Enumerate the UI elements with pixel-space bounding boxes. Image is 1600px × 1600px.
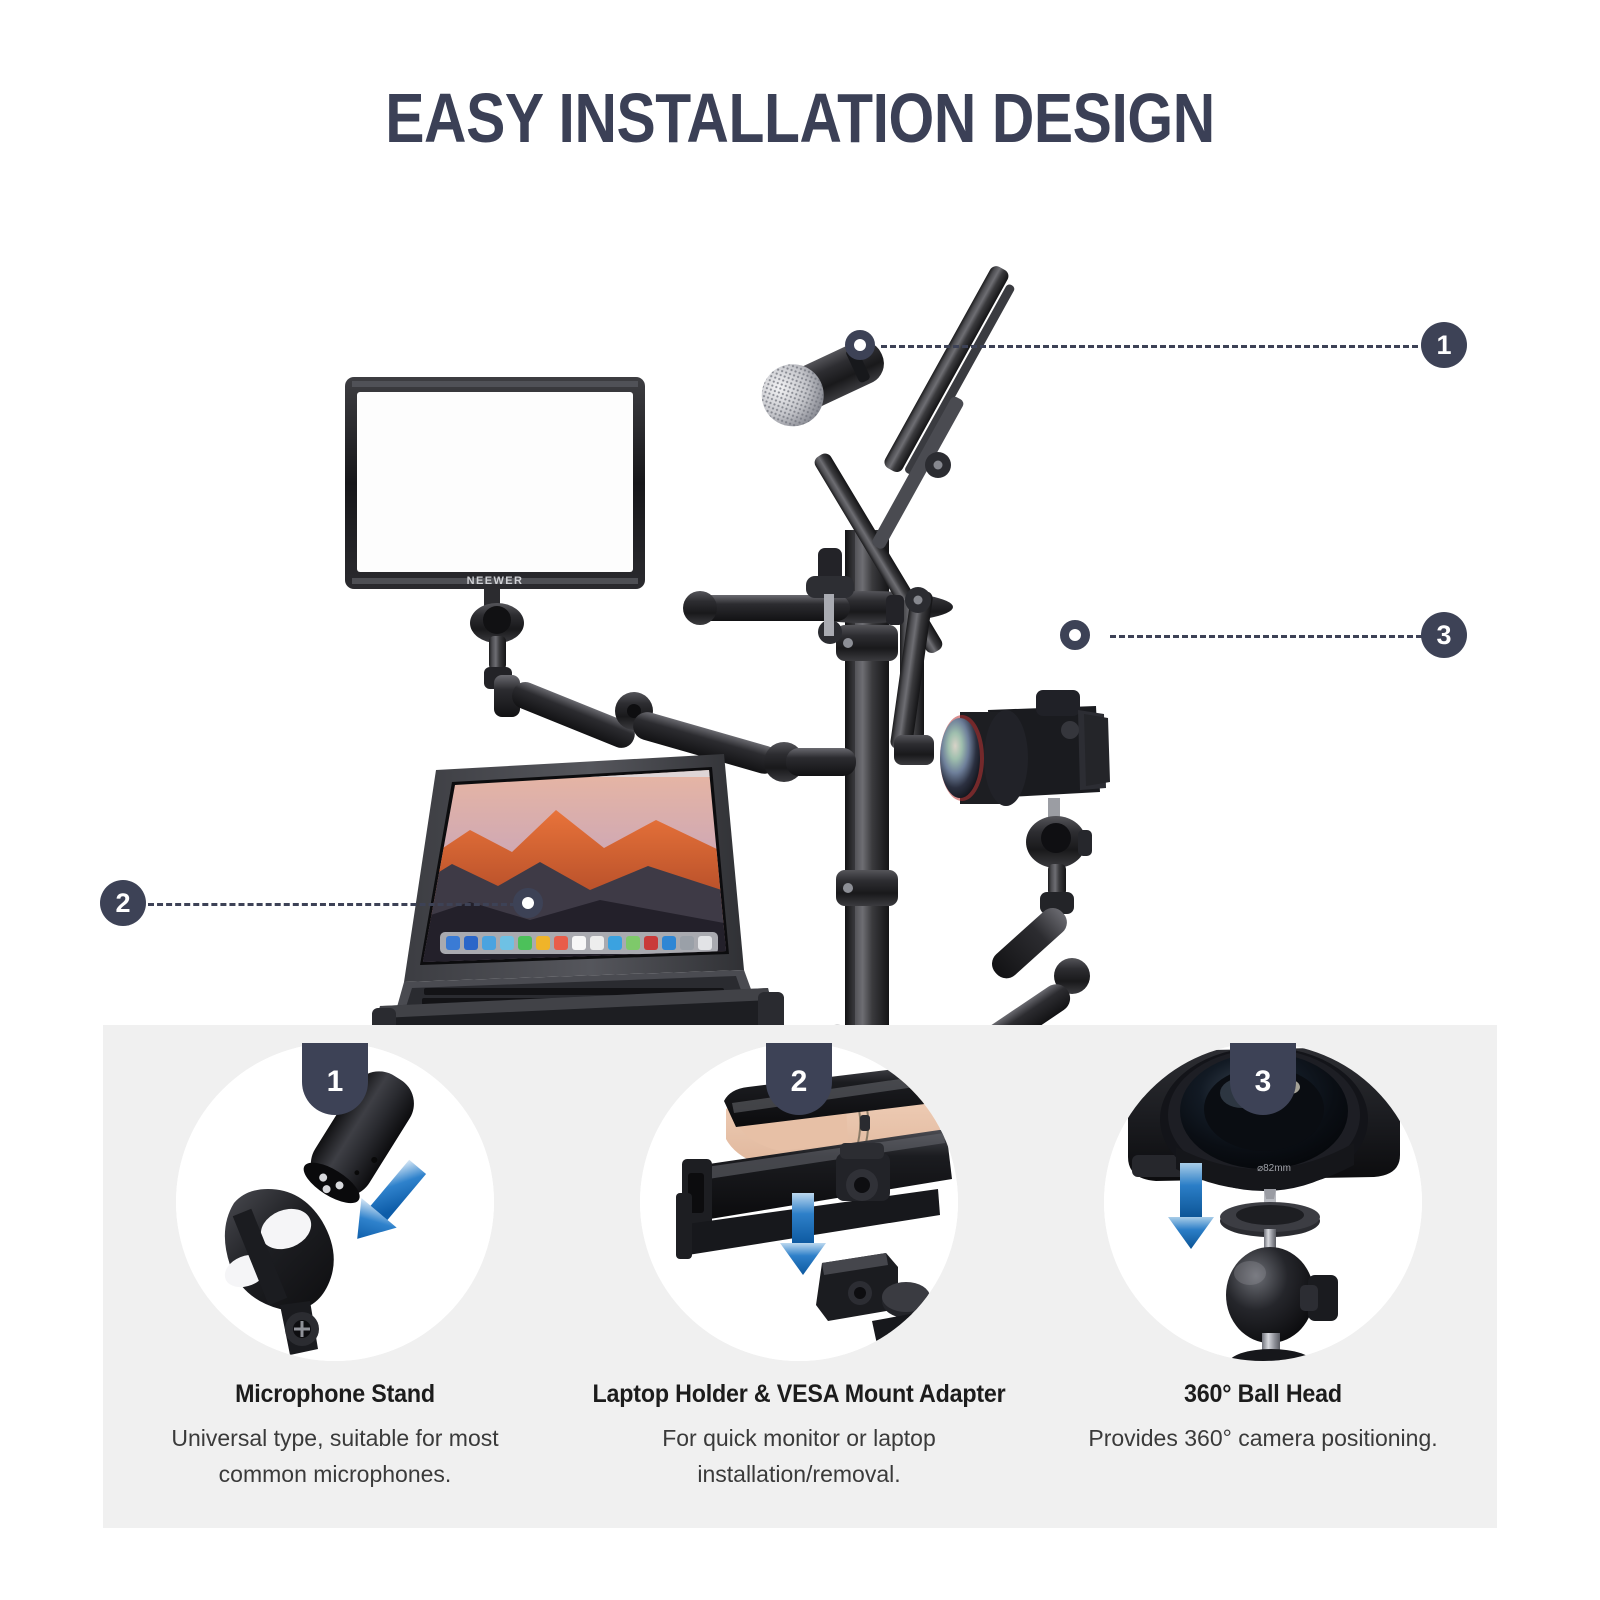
detail-desc-3: Provides 360° camera positioning.	[1063, 1420, 1463, 1456]
callout-anchor-2	[513, 888, 543, 918]
callout-lead-2	[148, 903, 516, 906]
detail-cell-1: 1 Microphone Stand Universal type, suita…	[103, 1025, 567, 1528]
detail-badge-1: 1	[302, 1043, 368, 1115]
detail-desc-1: Universal type, suitable for most common…	[135, 1420, 535, 1492]
detail-desc-2: For quick monitor or laptop installation…	[599, 1420, 999, 1492]
callout-anchor-1	[845, 330, 875, 360]
detail-cell-2: 2 Laptop Holder & VESA Mount Adapter For…	[567, 1025, 1031, 1528]
callout-lead-3	[1110, 635, 1422, 638]
detail-title-3: 360° Ball Head	[1047, 1380, 1479, 1409]
callout-anchor-3	[1060, 620, 1090, 650]
camera-ball-head	[1026, 798, 1092, 914]
detail-title-1: Microphone Stand	[119, 1380, 551, 1409]
detail-title-2: Laptop Holder & VESA Mount Adapter	[583, 1380, 1015, 1409]
camera-arm	[892, 903, 1090, 1030]
callout-badge-2[interactable]: 2	[100, 880, 146, 926]
detail-badge-3: 3	[1230, 1043, 1296, 1115]
callout-badge-3[interactable]: 3	[1421, 612, 1467, 658]
detail-cell-3: ⌀82mm	[1031, 1025, 1495, 1528]
detail-badge-2: 2	[766, 1043, 832, 1115]
hero-product-image: NEEWER	[0, 170, 1600, 1030]
dslr-camera	[940, 690, 1110, 806]
microphone-boom-arm	[812, 264, 1021, 765]
callout-lead-1	[881, 345, 1418, 348]
callout-badge-1[interactable]: 1	[1421, 322, 1467, 368]
lens-marking: ⌀82mm	[1257, 1163, 1291, 1174]
led-light-panel: NEEWER	[345, 377, 645, 689]
detail-panel: 1 Microphone Stand Universal type, suita…	[103, 1025, 1497, 1528]
svg-text:NEEWER: NEEWER	[467, 575, 524, 587]
page-title: EASY INSTALLATION DESIGN	[128, 78, 1472, 158]
laptop	[390, 754, 760, 1030]
